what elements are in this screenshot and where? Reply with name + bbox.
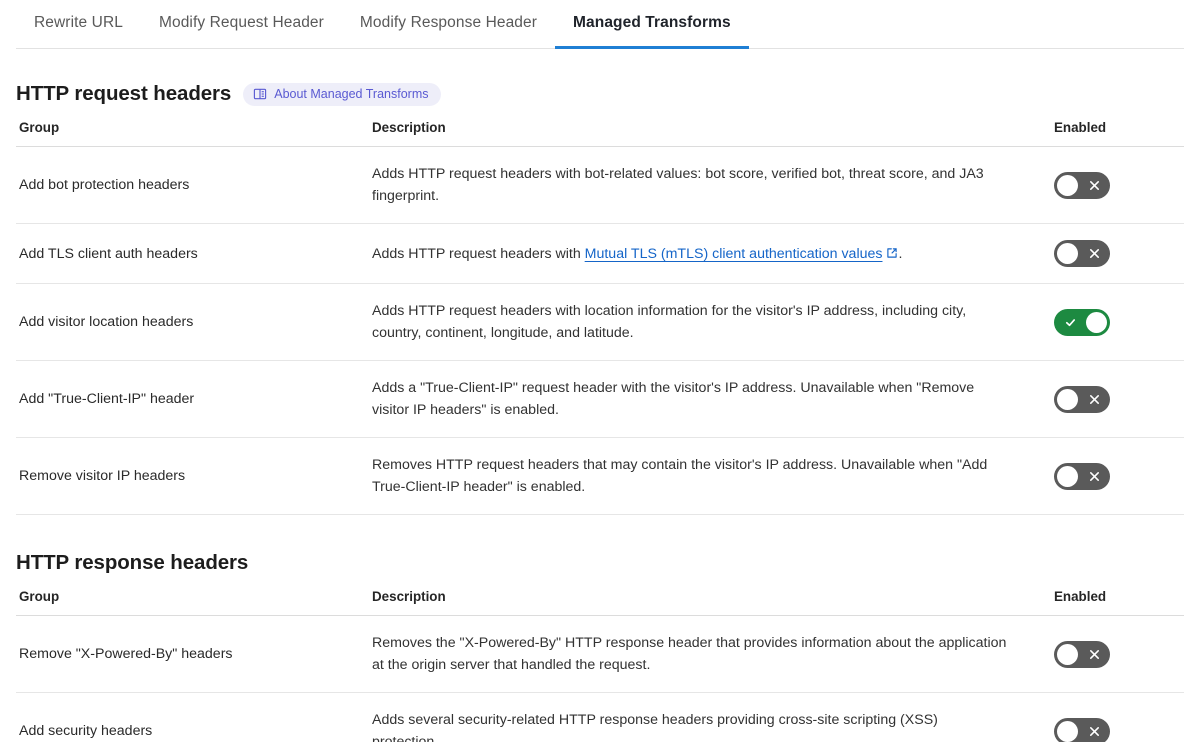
tab-label: Managed Transforms (573, 14, 731, 31)
close-icon (1078, 463, 1110, 490)
tab-bar: Rewrite URL Modify Request Header Modify… (0, 0, 1200, 49)
section-title: HTTP response headers (16, 551, 248, 575)
table-row: Remove visitor IP headers Removes HTTP r… (16, 438, 1184, 515)
close-icon (1078, 240, 1110, 267)
toggle-knob (1086, 312, 1107, 333)
toggle-knob (1057, 721, 1078, 742)
row-group-name: Add TLS client auth headers (16, 224, 372, 284)
row-description: Adds HTTP request headers with location … (372, 284, 1052, 361)
badge-label: About Managed Transforms (274, 87, 428, 102)
enabled-toggle[interactable] (1054, 309, 1110, 336)
section-http-response-headers: HTTP response headers Group Description … (0, 551, 1200, 742)
table-header-row: Group Description Enabled (16, 589, 1184, 616)
enabled-toggle[interactable] (1054, 718, 1110, 742)
book-icon (253, 87, 267, 101)
column-header-enabled: Enabled (1052, 120, 1184, 147)
request-headers-table: Group Description Enabled Add bot protec… (16, 120, 1184, 515)
table-row: Remove "X-Powered-By" headers Removes th… (16, 616, 1184, 693)
row-description: Removes HTTP request headers that may co… (372, 438, 1052, 515)
row-description: Adds several security-related HTTP respo… (372, 693, 1052, 742)
tab-modify-request-header[interactable]: Modify Request Header (141, 0, 342, 49)
enabled-toggle[interactable] (1054, 386, 1110, 413)
enabled-toggle[interactable] (1054, 240, 1110, 267)
enabled-toggle[interactable] (1054, 172, 1110, 199)
table-header-row: Group Description Enabled (16, 120, 1184, 147)
column-header-description: Description (372, 589, 1052, 616)
column-header-description: Description (372, 120, 1052, 147)
row-group-name: Add visitor location headers (16, 284, 372, 361)
enabled-toggle[interactable] (1054, 463, 1110, 490)
row-enabled-cell (1052, 284, 1184, 361)
row-description: Adds a "True-Client-IP" request header w… (372, 361, 1052, 438)
row-group-name: Remove "X-Powered-By" headers (16, 616, 372, 693)
table-row: Add bot protection headers Adds HTTP req… (16, 147, 1184, 224)
row-enabled-cell (1052, 361, 1184, 438)
table-row: Add visitor location headers Adds HTTP r… (16, 284, 1184, 361)
column-header-group: Group (16, 589, 372, 616)
toggle-knob (1057, 644, 1078, 665)
close-icon (1078, 641, 1110, 668)
toggle-knob (1057, 243, 1078, 264)
table-row: Add security headers Adds several securi… (16, 693, 1184, 742)
response-headers-table: Group Description Enabled Remove "X-Powe… (16, 589, 1184, 742)
row-description: Removes the "X-Powered-By" HTTP response… (372, 616, 1052, 693)
tab-label: Modify Response Header (360, 14, 537, 31)
tab-rewrite-url[interactable]: Rewrite URL (16, 0, 141, 49)
row-group-name: Add "True-Client-IP" header (16, 361, 372, 438)
enabled-toggle[interactable] (1054, 641, 1110, 668)
row-description: Adds HTTP request headers with Mutual TL… (372, 224, 1052, 284)
row-enabled-cell (1052, 224, 1184, 284)
row-group-name: Add security headers (16, 693, 372, 742)
tab-managed-transforms[interactable]: Managed Transforms (555, 0, 749, 49)
tab-label: Modify Request Header (159, 14, 324, 31)
table-row: Add "True-Client-IP" header Adds a "True… (16, 361, 1184, 438)
tab-modify-response-header[interactable]: Modify Response Header (342, 0, 555, 49)
check-icon (1054, 309, 1086, 336)
close-icon (1078, 172, 1110, 199)
row-description: Adds HTTP request headers with bot-relat… (372, 147, 1052, 224)
external-link-icon[interactable] (886, 244, 898, 256)
mtls-documentation-link[interactable]: Mutual TLS (mTLS) client authentication … (585, 246, 883, 262)
section-title: HTTP request headers (16, 82, 231, 106)
row-group-name: Add bot protection headers (16, 147, 372, 224)
about-managed-transforms-badge[interactable]: About Managed Transforms (243, 83, 441, 106)
section-header: HTTP response headers (16, 551, 1184, 575)
description-text-after: . (898, 246, 902, 262)
row-enabled-cell (1052, 438, 1184, 515)
toggle-knob (1057, 175, 1078, 196)
table-row: Add TLS client auth headers Adds HTTP re… (16, 224, 1184, 284)
row-enabled-cell (1052, 147, 1184, 224)
close-icon (1078, 386, 1110, 413)
tab-label: Rewrite URL (34, 14, 123, 31)
row-group-name: Remove visitor IP headers (16, 438, 372, 515)
section-header: HTTP request headers About Managed Trans… (16, 82, 1184, 106)
column-header-group: Group (16, 120, 372, 147)
toggle-knob (1057, 466, 1078, 487)
toggle-knob (1057, 389, 1078, 410)
row-enabled-cell (1052, 693, 1184, 742)
row-enabled-cell (1052, 616, 1184, 693)
section-http-request-headers: HTTP request headers About Managed Trans… (0, 82, 1200, 515)
description-text-before: Adds HTTP request headers with (372, 246, 585, 262)
column-header-enabled: Enabled (1052, 589, 1184, 616)
close-icon (1078, 718, 1110, 742)
